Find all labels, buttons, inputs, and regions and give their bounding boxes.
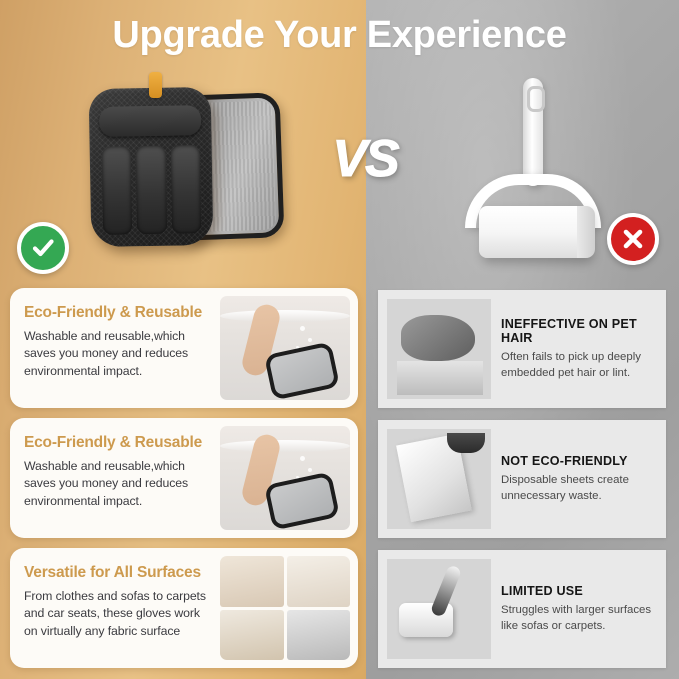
feature-card: Versatile for All Surfaces From clothes …: [10, 548, 358, 668]
drawback-card: INEFFECTIVE ON PET HAIR Often fails to p…: [378, 290, 666, 408]
thumb-closet: [220, 556, 284, 607]
roller-handle: [523, 78, 543, 186]
drawback-card-title: NOT ECO-FRIENDLY: [501, 454, 656, 468]
feature-card-title: Versatile for All Surfaces: [24, 564, 212, 582]
drawback-card-image: [387, 559, 491, 659]
thumb-sofa: [287, 556, 351, 607]
hero-image-glove: [82, 72, 287, 262]
drawback-card-image: [387, 299, 491, 399]
drawback-card-text: INEFFECTIVE ON PET HAIR Often fails to p…: [501, 317, 666, 381]
feature-card-text: Eco-Friendly & Reusable Washable and reu…: [10, 288, 220, 408]
hero-image-lint-roller: [455, 78, 625, 258]
thumb-rug: [220, 610, 284, 661]
drawback-card-text: LIMITED USE Struggles with larger surfac…: [501, 584, 666, 634]
drawback-card-title: LIMITED USE: [501, 584, 656, 598]
feature-card-body: From clothes and sofas to carpets and ca…: [24, 588, 212, 640]
thumb-car-seat: [287, 610, 351, 661]
glove-black-front: [89, 87, 214, 247]
feature-card-image: [220, 426, 350, 530]
drawback-card-body: Struggles with larger surfaces like sofa…: [501, 603, 656, 634]
check-circle-icon: [17, 222, 69, 274]
feature-card-body: Washable and reusable,which saves you mo…: [24, 328, 212, 380]
feature-card: Eco-Friendly & Reusable Washable and reu…: [10, 288, 358, 408]
feature-card-image: [220, 296, 350, 400]
feature-card-text: Eco-Friendly & Reusable Washable and reu…: [10, 418, 220, 538]
glove-finger-pockets: [102, 145, 202, 235]
feature-card-body: Washable and reusable,which saves you mo…: [24, 458, 212, 510]
vs-badge: VS: [315, 128, 415, 190]
drawback-card-text: NOT ECO-FRIENDLY Disposable sheets creat…: [501, 454, 666, 504]
drawback-card: LIMITED USE Struggles with larger surfac…: [378, 550, 666, 668]
drawback-card-title: INEFFECTIVE ON PET HAIR: [501, 317, 656, 345]
drawback-card-image: [387, 429, 491, 529]
drawback-card-body: Disposable sheets create unnecessary was…: [501, 473, 656, 504]
comparison-infographic: Upgrade Your Experience VS Eco-Friendly: [0, 0, 679, 679]
feature-card-text: Versatile for All Surfaces From clothes …: [10, 548, 220, 668]
feature-card: Eco-Friendly & Reusable Washable and reu…: [10, 418, 358, 538]
glove-wrist-flap: [99, 105, 202, 137]
page-title: Upgrade Your Experience: [0, 14, 679, 57]
roller-drum: [479, 206, 591, 258]
feature-card-title: Eco-Friendly & Reusable: [24, 304, 212, 322]
drawback-card-body: Often fails to pick up deeply embedded p…: [501, 350, 656, 381]
feature-card-image: [220, 556, 350, 660]
x-circle-icon: [607, 213, 659, 265]
glove-hang-tab: [149, 72, 162, 98]
drawback-card: NOT ECO-FRIENDLY Disposable sheets creat…: [378, 420, 666, 538]
feature-card-title: Eco-Friendly & Reusable: [24, 434, 212, 452]
